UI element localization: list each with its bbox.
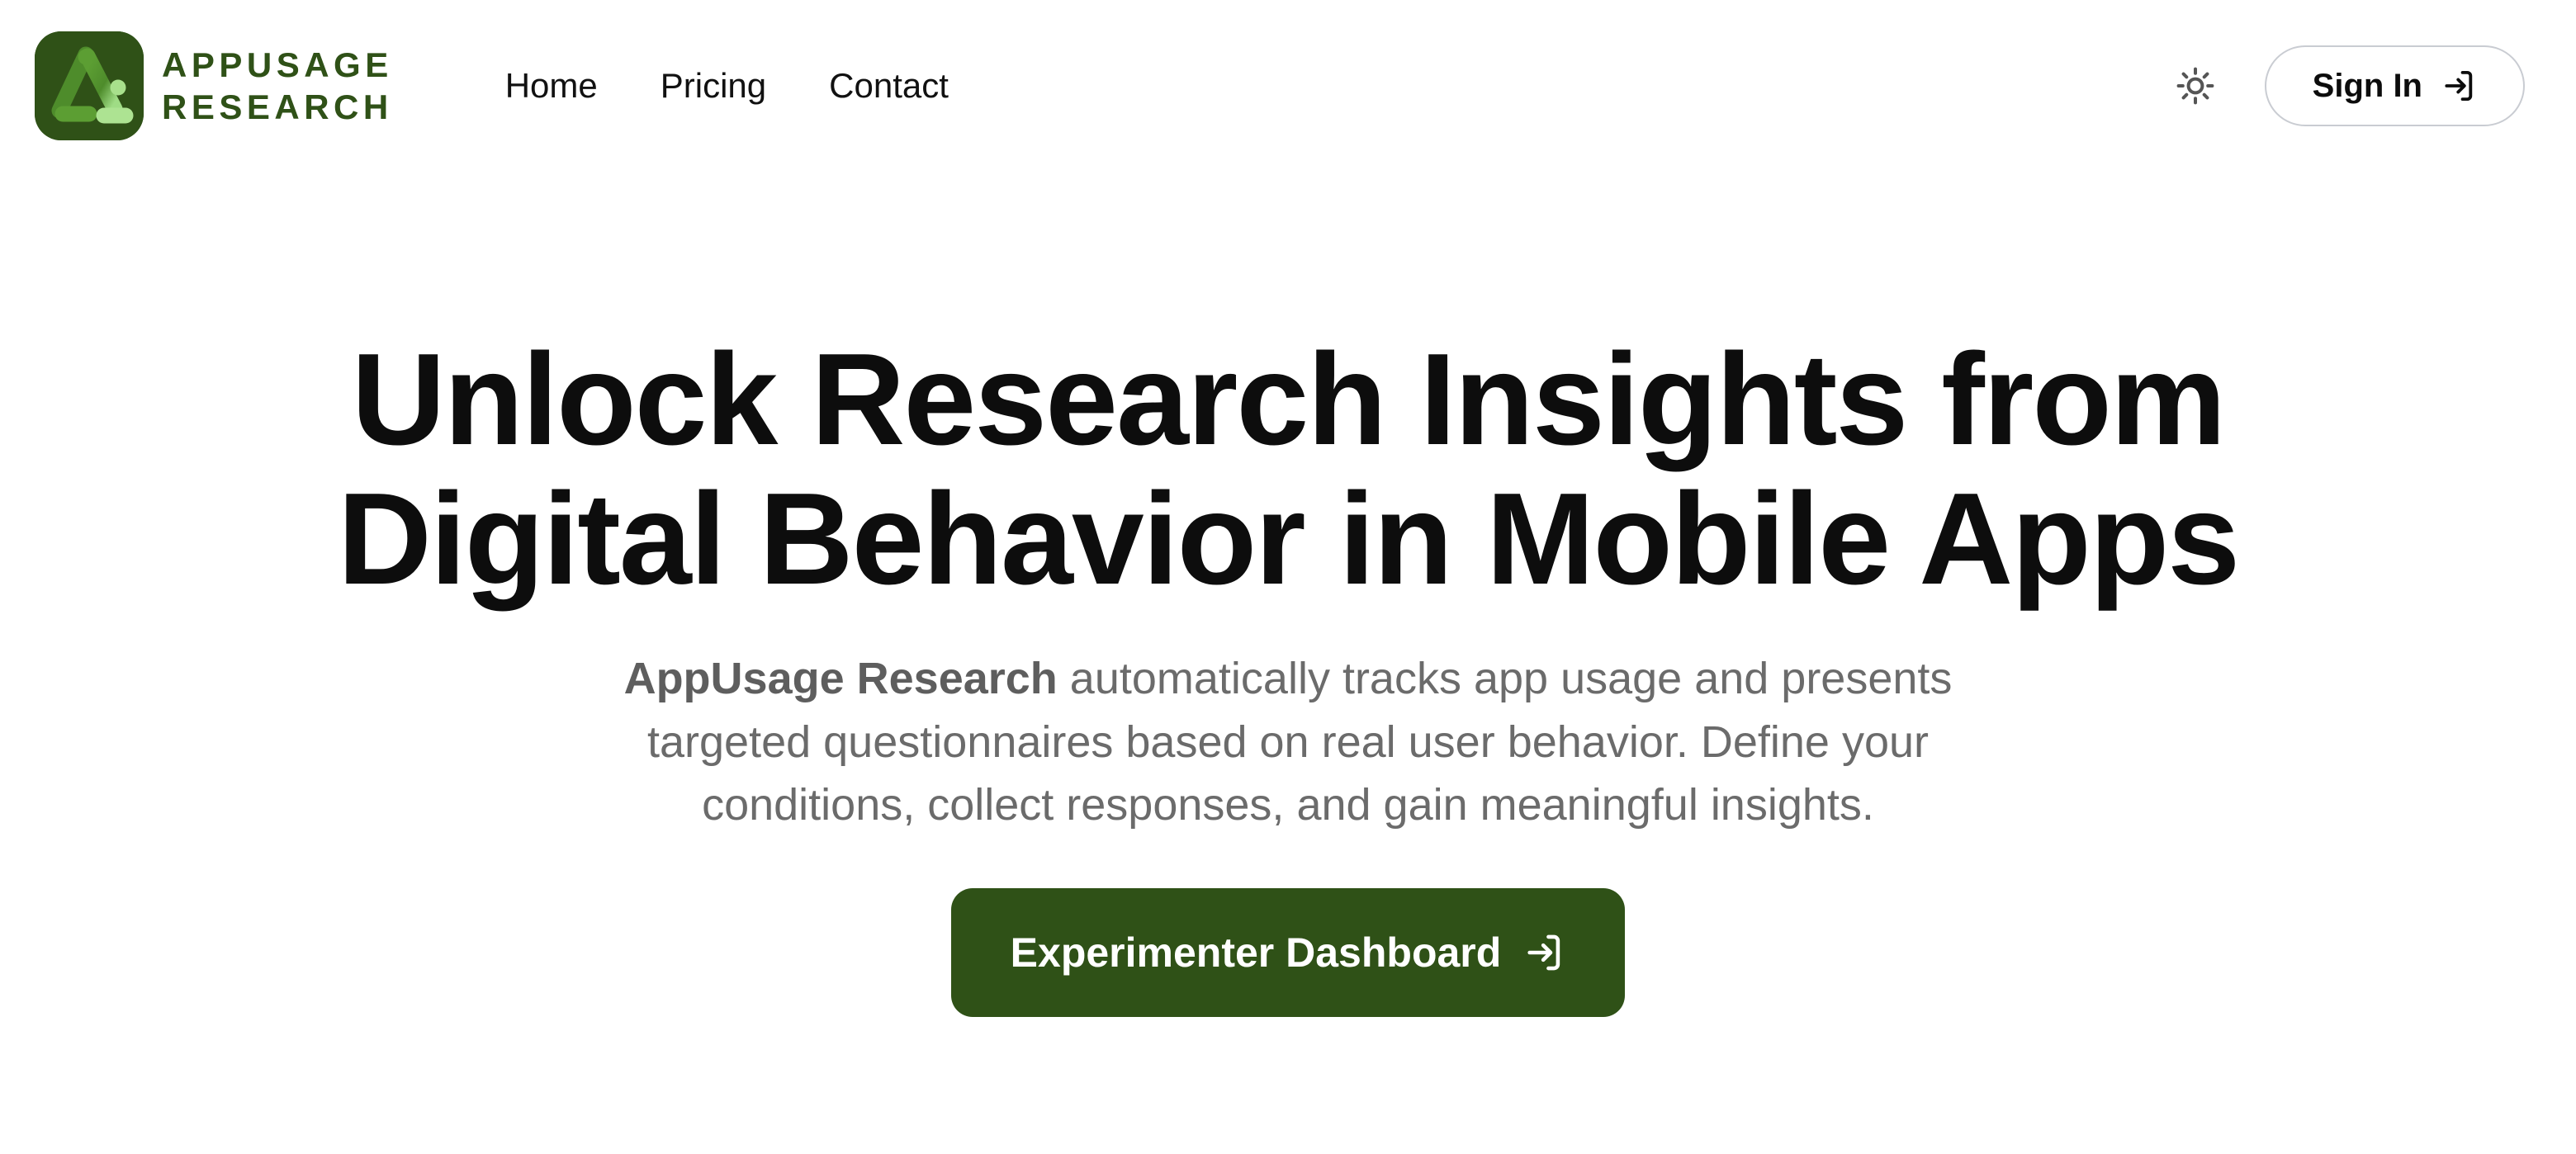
brand-logo-link[interactable]: APPUSAGE RESEARCH xyxy=(35,31,393,140)
cta-container: Experimenter Dashboard xyxy=(149,888,2427,1017)
nav-item-pricing[interactable]: Pricing xyxy=(629,57,798,115)
wordmark-line-1: APPUSAGE xyxy=(162,44,393,86)
theme-toggle-button[interactable] xyxy=(2166,56,2225,116)
appusage-logo-icon xyxy=(35,31,144,140)
site-header: APPUSAGE RESEARCH Home Pricing Contact xyxy=(0,0,2576,172)
sun-icon xyxy=(2176,66,2215,106)
hero-subtitle-brand: AppUsage Research xyxy=(624,654,1058,703)
cta-label: Experimenter Dashboard xyxy=(1011,932,1502,973)
sign-in-button[interactable]: Sign In xyxy=(2265,45,2525,126)
hero-subtitle: AppUsage Research automatically tracks a… xyxy=(549,647,2027,837)
experimenter-dashboard-button[interactable]: Experimenter Dashboard xyxy=(951,888,1626,1017)
wordmark-line-2: RESEARCH xyxy=(162,86,393,128)
hero-section: Unlock Research Insights from Digital Be… xyxy=(0,330,2576,1017)
nav-item-home[interactable]: Home xyxy=(474,57,629,115)
brand-wordmark: APPUSAGE RESEARCH xyxy=(162,44,393,128)
login-arrow-icon xyxy=(1522,931,1565,974)
login-arrow-icon xyxy=(2441,68,2477,104)
page-title: Unlock Research Insights from Digital Be… xyxy=(248,330,2328,609)
main-navigation: Home Pricing Contact xyxy=(474,57,980,115)
sign-in-label: Sign In xyxy=(2313,69,2422,102)
header-actions: Sign In xyxy=(2166,45,2543,126)
nav-item-contact[interactable]: Contact xyxy=(798,57,980,115)
